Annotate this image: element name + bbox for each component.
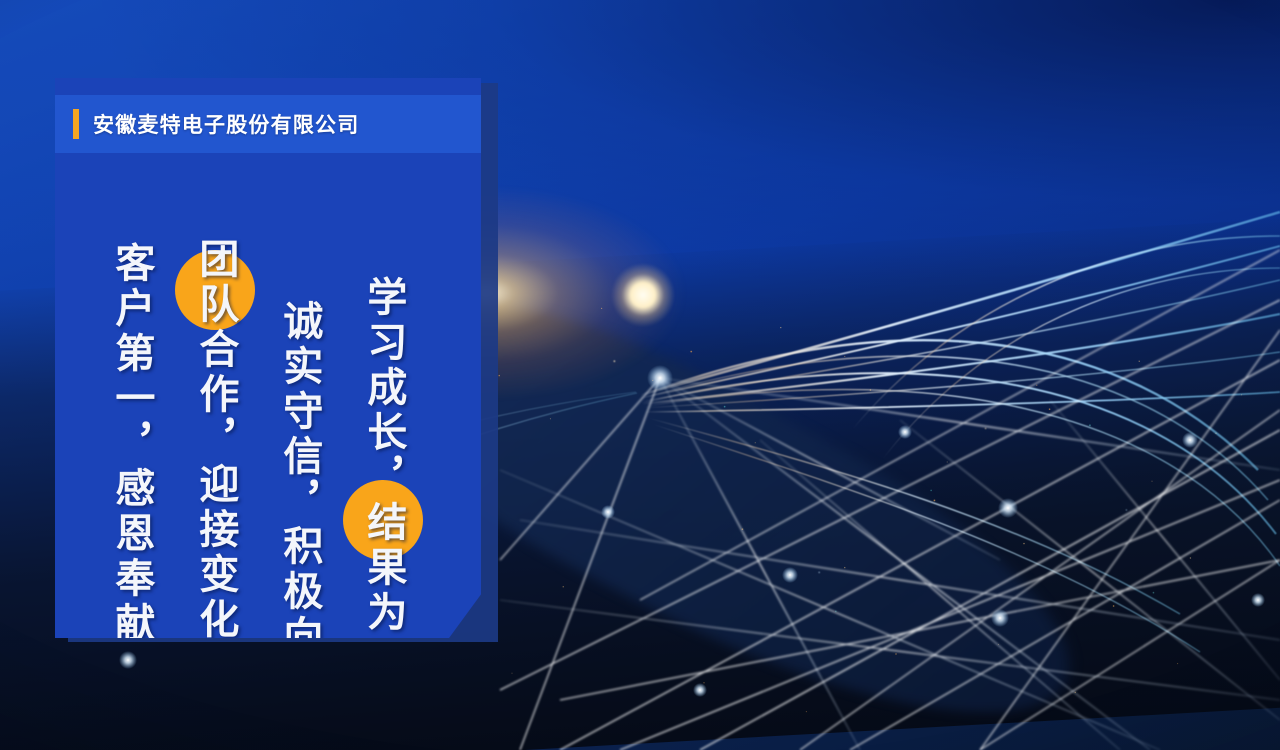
panel-header: 安徽麦特电子股份有限公司 bbox=[55, 95, 481, 153]
slogan-text: 学习成长，结果为王 bbox=[361, 276, 406, 681]
slogan-column-teamwork-change: 团队合作，迎接变化 bbox=[173, 228, 257, 698]
slogan-column-customer-first: 客户第一，感恩奉献 bbox=[89, 228, 173, 698]
slogan-text: 团队合作，迎接变化 bbox=[193, 238, 238, 643]
slogan-list: 学习成长，结果为王 诚实守信，积极向上 团队合作，迎接变化 客户第一，感恩奉献 bbox=[55, 228, 481, 698]
accent-bar-icon bbox=[73, 109, 79, 139]
slogan-column-learning-growth: 学习成长，结果为王 bbox=[341, 228, 425, 698]
company-name-title: 安徽麦特电子股份有限公司 bbox=[93, 109, 359, 139]
culture-panel: 安徽麦特电子股份有限公司 学习成长，结果为王 诚实守信，积极向上 团队合作，迎接… bbox=[55, 78, 481, 638]
slogan-text: 客户第一，感恩奉献 bbox=[109, 242, 154, 647]
slogan-column-honesty-trust: 诚实守信，积极向上 bbox=[257, 228, 341, 698]
banner-canvas: 安徽麦特电子股份有限公司 学习成长，结果为王 诚实守信，积极向上 团队合作，迎接… bbox=[0, 0, 1280, 750]
